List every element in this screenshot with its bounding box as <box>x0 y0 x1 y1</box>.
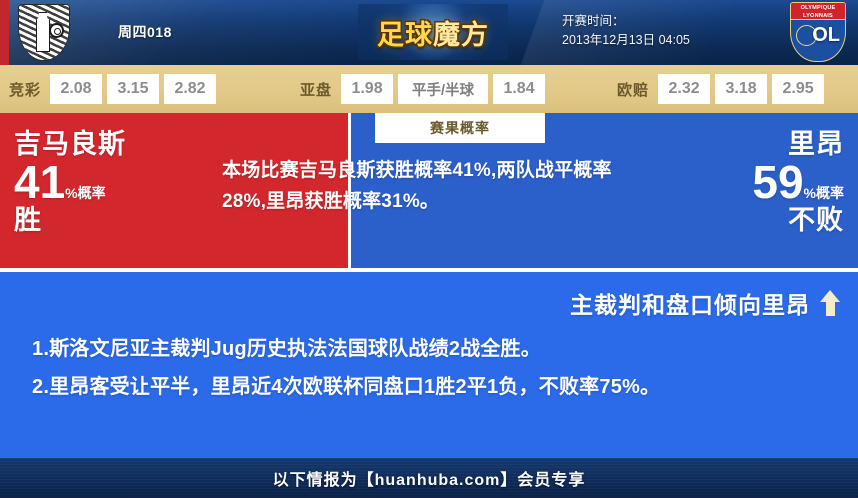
kickoff-value: 2013年12月13日 04:05 <box>562 31 762 50</box>
home-team-name: 吉马良斯 <box>14 129 126 159</box>
kickoff-time: 开赛时间： 2013年12月13日 04:05 <box>562 12 762 50</box>
probability-section: 吉马良斯 41 %概率 胜 里昂 59 %概率 不败 赛果概率 本场比赛吉马良斯… <box>0 113 858 268</box>
away-probability-block: 里昂 59 %概率 不败 <box>752 129 844 235</box>
odds-group-euro: 欧赔 2.32 3.18 2.95 <box>608 74 829 104</box>
page-header: 周四018 足球魔方 开赛时间： 2013年12月13日 04:05 OLYMP… <box>0 0 858 65</box>
crest-swirl-icon <box>49 23 64 38</box>
home-probability-result: 胜 <box>14 205 126 235</box>
odds-label-asian: 亚盘 <box>291 79 341 100</box>
tendency-text: 主裁判和盘口倾向里昂 <box>570 286 810 320</box>
home-probability-unit: %概率 <box>65 183 105 203</box>
footer-text: 以下情报为【huanhuba.com】会员专享 <box>273 466 586 490</box>
home-probability-value-row: 41 %概率 <box>14 159 126 205</box>
odds-cell-asian-home[interactable]: 1.98 <box>341 74 393 104</box>
match-number: 周四018 <box>118 22 172 42</box>
odds-cell-asian-away[interactable]: 1.84 <box>493 74 545 104</box>
home-probability-value: 41 <box>14 159 65 205</box>
brand-logo-text: 足球魔方 <box>377 13 489 52</box>
odds-label-euro: 欧赔 <box>608 79 658 100</box>
home-probability-block: 吉马良斯 41 %概率 胜 <box>14 129 126 235</box>
away-team-name: 里昂 <box>752 129 844 159</box>
probability-summary-text: 本场比赛吉马良斯获胜概率41%,两队战平概率28%,里昂获胜概率31%。 <box>222 155 622 217</box>
away-probability-value: 59 <box>752 159 803 205</box>
odds-cell-asian-handicap[interactable]: 平手/半球 <box>398 74 488 104</box>
analysis-panel: 主裁判和盘口倾向里昂 1.斯洛文尼亚主裁判Jug历史执法法国球队战绩2战全胜。 … <box>0 272 858 458</box>
away-probability-unit: %概率 <box>804 183 844 203</box>
page-footer: 以下情报为【huanhuba.com】会员专享 <box>0 458 858 498</box>
odds-cell-jingcai-away[interactable]: 2.82 <box>164 74 216 104</box>
header-accent-bar <box>0 0 9 65</box>
odds-cell-euro-home[interactable]: 2.32 <box>658 74 710 104</box>
away-probability-value-row: 59 %概率 <box>752 159 844 205</box>
odds-label-jingcai: 竞彩 <box>0 79 50 100</box>
crest-band-line2: LYONNAIS <box>791 12 845 20</box>
match-preview-page: 周四018 足球魔方 开赛时间： 2013年12月13日 04:05 OLYMP… <box>0 0 858 498</box>
crest-band: OLYMPIQUE LYONNAIS <box>791 3 845 20</box>
home-team-crest-icon <box>18 4 70 61</box>
arrow-up-icon <box>820 290 840 316</box>
odds-group-asian: 亚盘 1.98 平手/半球 1.84 <box>291 74 550 104</box>
away-team-crest-icon: OLYMPIQUE LYONNAIS OL <box>790 2 846 62</box>
brand-logo-text-left: 足球 <box>377 20 433 50</box>
list-item: 1.斯洛文尼亚主裁判Jug历史执法法国球队战绩2战全胜。 <box>32 330 832 368</box>
tab-result-probability[interactable]: 赛果概率 <box>375 113 545 143</box>
analysis-points-list: 1.斯洛文尼亚主裁判Jug历史执法法国球队战绩2战全胜。 2.里昂客受让平半，里… <box>32 330 832 406</box>
odds-cell-euro-draw[interactable]: 3.18 <box>715 74 767 104</box>
brand-logo: 足球魔方 <box>358 4 508 60</box>
kickoff-label: 开赛时间： <box>562 12 762 31</box>
odds-cell-euro-away[interactable]: 2.95 <box>772 74 824 104</box>
list-item: 2.里昂客受让平半，里昂近4次欧联杯同盘口1胜2平1负，不败率75%。 <box>32 368 832 406</box>
brand-logo-text-right: 魔方 <box>433 20 489 50</box>
odds-cell-jingcai-draw[interactable]: 3.15 <box>107 74 159 104</box>
away-probability-result: 不败 <box>752 205 844 235</box>
crest-band-line1: OLYMPIQUE <box>791 4 845 12</box>
crest-monogram: OL <box>812 23 840 47</box>
tendency-headline: 主裁判和盘口倾向里昂 <box>570 286 840 320</box>
odds-group-jingcai: 竞彩 2.08 3.15 2.82 <box>0 74 221 104</box>
odds-cell-jingcai-home[interactable]: 2.08 <box>50 74 102 104</box>
odds-bar: 竞彩 2.08 3.15 2.82 亚盘 1.98 平手/半球 1.84 欧赔 … <box>0 65 858 113</box>
